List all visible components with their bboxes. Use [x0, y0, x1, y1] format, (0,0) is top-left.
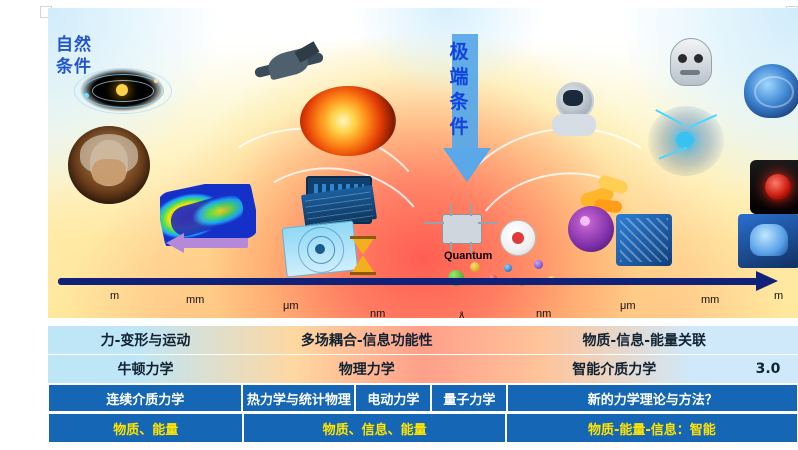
axis-tick-4: Å [458, 312, 465, 318]
axis-tick-1: mm [186, 294, 204, 306]
astronaut [538, 76, 612, 138]
hourglass [348, 236, 378, 276]
natural-condition-label: 自然条件 [56, 34, 96, 78]
axis-tick-3: nm [370, 308, 385, 318]
nano-cube [616, 214, 672, 266]
cell-r4c1[interactable]: 物质、能量 [48, 413, 243, 443]
explosion [300, 86, 396, 156]
robot-head [660, 34, 720, 96]
cell-r3c3[interactable]: 电动力学 [355, 384, 431, 412]
cell-r3c5[interactable]: 新的力学理论与方法？ [507, 384, 798, 412]
axis-tick-6: μm [620, 300, 636, 312]
axis-tick-8: m [774, 290, 783, 302]
cell-r2c3: 智能介质力学 [491, 355, 739, 383]
cell-r1c2: 多场耦合-信息功能性 [243, 326, 491, 354]
human-brain [744, 64, 798, 118]
axis-tick-7: mm [701, 294, 719, 306]
virus-particle [500, 220, 536, 256]
axis-line [58, 278, 758, 285]
newton-portrait [68, 126, 150, 204]
mems-device [282, 220, 359, 277]
axis-arrow-icon [756, 271, 778, 291]
energy-landscape-scene: Quantum [48, 8, 798, 318]
ai-brain-chip [738, 214, 798, 268]
extreme-condition-arrow-icon [443, 148, 491, 182]
cell-r2c1: 牛顿力学 [48, 355, 243, 383]
cell-r1c1: 力-变形与运动 [48, 326, 243, 354]
axis-tick-0: m [110, 290, 119, 302]
table-row-theories: 连续介质力学 热力学与统计物理 电动力学 量子力学 新的力学理论与方法？ [48, 384, 798, 412]
table-row-concepts: 力-变形与运动 多场耦合-信息功能性 物质-信息-能量关联 [48, 326, 798, 354]
arrow-left-purple [166, 230, 252, 256]
cell-r3c2[interactable]: 热力学与统计物理 [242, 384, 355, 412]
red-eye-sensor [750, 160, 798, 214]
cell-r3c1[interactable]: 连续介质力学 [48, 384, 242, 412]
table-row-mechanics: 牛顿力学 物理力学 智能介质力学 3.0 [48, 355, 798, 383]
quantum-chip [424, 204, 498, 252]
slide-canvas: Quantum [0, 0, 798, 450]
cell-r2c4-version: 3.0 [738, 355, 798, 383]
dna-cell [568, 206, 614, 252]
neuron-network [648, 106, 724, 176]
cell-r1c3: 物质-信息-能量关联 [491, 326, 798, 354]
cell-r2c2: 物理力学 [243, 355, 491, 383]
fighter-jet [248, 40, 328, 92]
summary-table: 力-变形与运动 多场耦合-信息功能性 物质-信息-能量关联 牛顿力学 物理力学 … [48, 326, 798, 446]
axis-tick-5: nm [536, 308, 551, 318]
axis-tick-2: μm [283, 300, 299, 312]
cell-r3c4[interactable]: 量子力学 [431, 384, 507, 412]
length-scale-axis: m mm μm nm Å nm μm mm m [58, 272, 786, 292]
table-row-quantities: 物质、能量 物质、信息、能量 物质-能量-信息：智能 [48, 413, 798, 443]
cell-r4c2[interactable]: 物质、信息、能量 [243, 413, 505, 443]
extreme-condition-label: 极端条件 [444, 40, 474, 140]
cell-r4c3[interactable]: 物质-能量-信息：智能 [506, 413, 798, 443]
